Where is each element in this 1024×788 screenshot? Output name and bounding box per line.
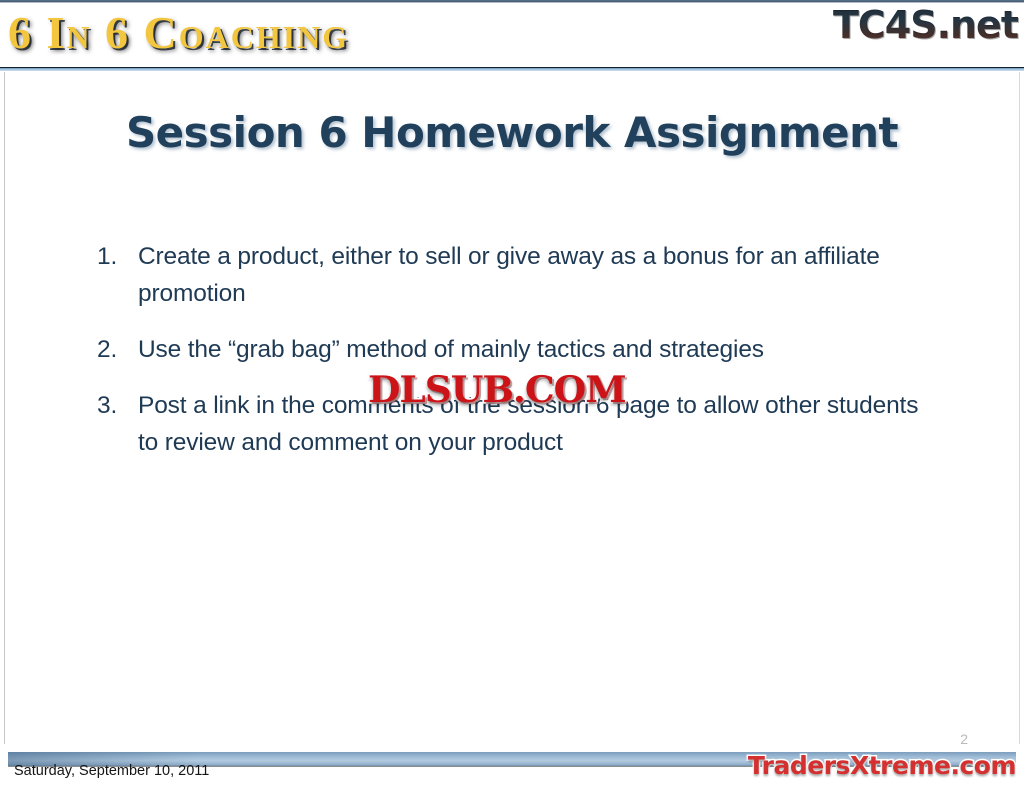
homework-list: 1. Create a product, either to sell or g… xyxy=(97,238,927,480)
watermark-dlsub: DLSUB.COM xyxy=(368,370,626,410)
brand-title: 6 In 6 Coaching xyxy=(8,6,349,60)
list-item-marker: 3. xyxy=(97,387,117,424)
list-item-marker: 2. xyxy=(97,331,117,368)
header-accent-line xyxy=(0,68,1024,71)
page-title: Session 6 Homework Assignment xyxy=(0,108,1024,157)
brand-logo-tc4s: TC4S.net xyxy=(833,2,1018,48)
list-item: 1. Create a product, either to sell or g… xyxy=(97,238,927,312)
footer-date: Saturday, September 10, 2011 xyxy=(14,763,209,779)
list-item: 2. Use the “grab bag” method of mainly t… xyxy=(97,331,927,368)
page-number: 2 xyxy=(960,731,968,747)
list-item-text: Create a product, either to sell or give… xyxy=(138,243,880,307)
list-item-marker: 1. xyxy=(97,238,117,275)
slide-canvas: 6 In 6 Coaching TC4S.net Session 6 Homew… xyxy=(0,0,1024,788)
watermark-tradersxtreme: TradersXtreme.com xyxy=(748,750,1016,781)
list-item-text: Use the “grab bag” method of mainly tact… xyxy=(138,336,764,363)
